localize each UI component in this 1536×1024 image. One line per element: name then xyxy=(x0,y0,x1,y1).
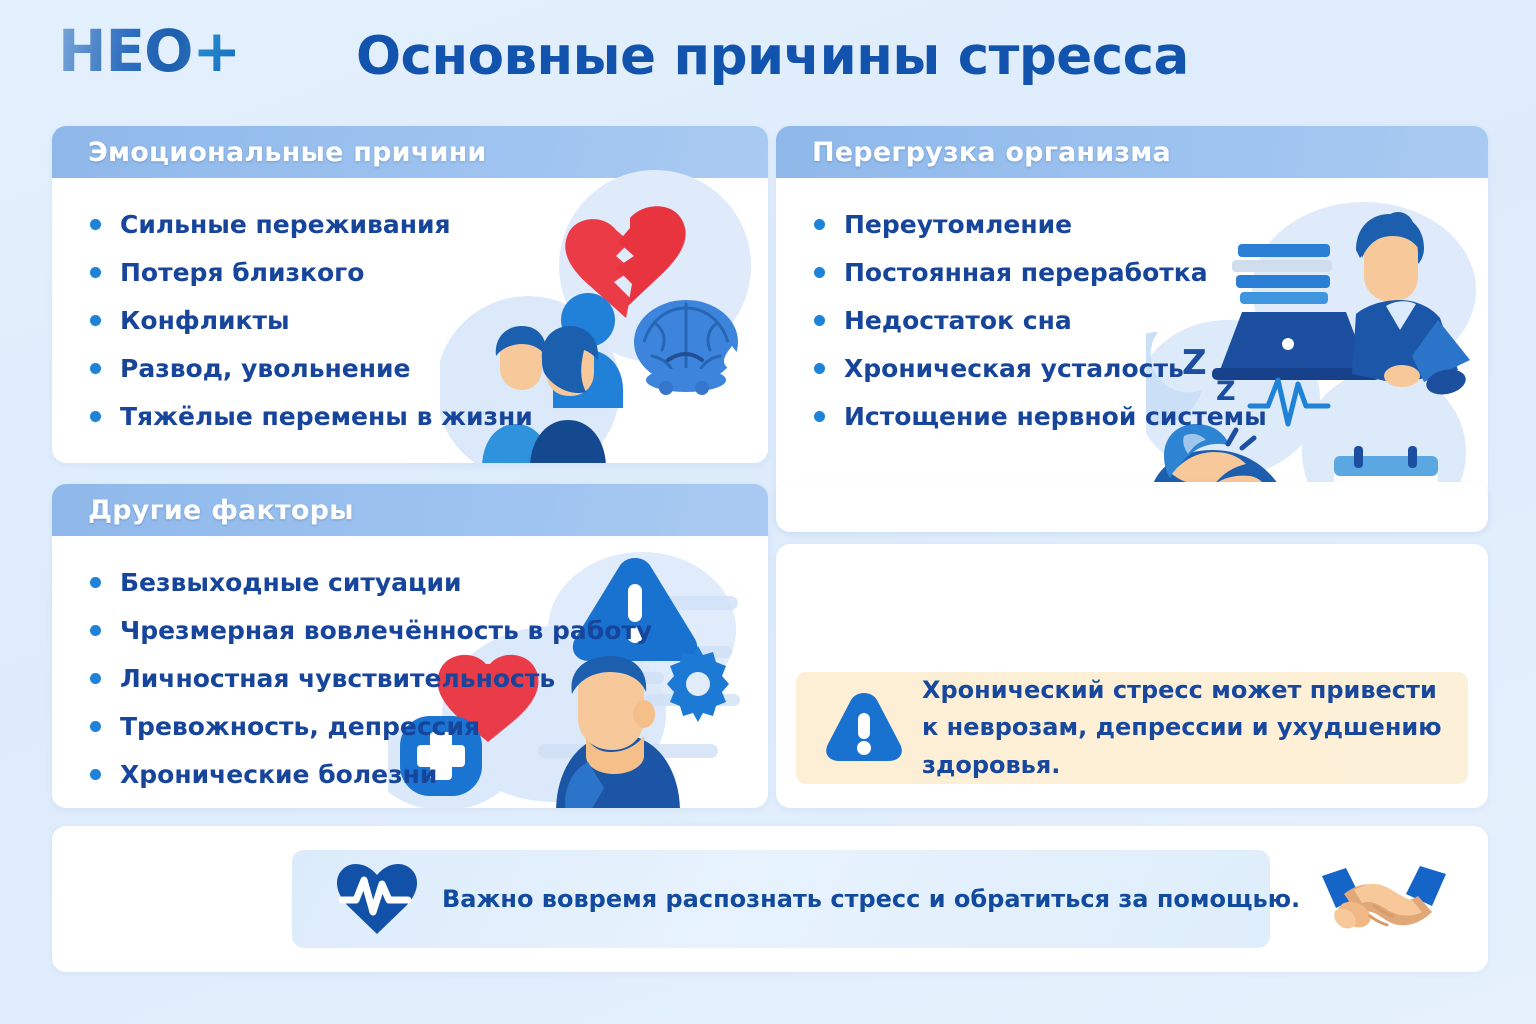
list-item: Постоянная переработка xyxy=(814,248,1267,296)
list-item: Хронические болезни xyxy=(90,750,652,798)
list-item: Недостаток сна xyxy=(814,296,1267,344)
warning-text-line1: Хронический стресс может привести xyxy=(922,676,1437,704)
list-item-label: Развод, увольнение xyxy=(120,354,411,383)
list-item-label: Безвыходные ситуации xyxy=(120,568,462,597)
list-item: Тяжёлые перемены в жизни xyxy=(90,392,533,440)
card-spacer-strip xyxy=(776,482,1488,532)
list-item: Переутомление xyxy=(814,200,1267,248)
bullet-dot-icon xyxy=(90,267,101,278)
bullet-dot-icon xyxy=(90,625,101,636)
footer-callout: Важно вовремя распознать стресс и обрати… xyxy=(292,850,1270,948)
card-title-emotional: Эмоциональные причини xyxy=(88,137,487,168)
card-footer: Важно вовремя распознать стресс и обрати… xyxy=(52,826,1488,972)
list-item-label: Тревожность, депрессия xyxy=(120,712,480,741)
bullet-dot-icon xyxy=(814,315,825,326)
list-item-label: Переутомление xyxy=(844,210,1072,239)
warning-text: Хронический стресс может привести к невр… xyxy=(922,672,1468,784)
list-item: Развод, увольнение xyxy=(90,344,533,392)
page-title: Основные причины стресса xyxy=(356,26,1136,98)
card-body-emotional: Сильные переживания Потеря близкого Конф… xyxy=(52,178,768,463)
bullet-dot-icon xyxy=(90,721,101,732)
card-emotional-causes: Эмоциональные причини xyxy=(52,126,768,463)
heart-pulse-icon xyxy=(334,862,420,936)
bullet-dot-icon xyxy=(90,577,101,588)
page-header: НЕО+ Основные причины стресса xyxy=(0,0,1536,118)
card-chronic-stress-warning: Хронический стресс может привести к невр… xyxy=(776,544,1488,808)
bullet-dot-icon xyxy=(814,267,825,278)
logo-wordmark: НЕО xyxy=(58,17,192,85)
list-item-label: Истощение нервной системы xyxy=(844,402,1267,431)
warning-callout: Хронический стресс может привести к невр… xyxy=(796,672,1468,784)
card-body-overload-content: Z Z xyxy=(776,178,1488,530)
list-item-label: Хроническая усталость xyxy=(844,354,1184,383)
list-item: Сильные переживания xyxy=(90,200,533,248)
neo-plus-logo: НЕО+ xyxy=(58,22,240,80)
list-item: Истощение нервной системы xyxy=(814,392,1267,440)
bullet-dot-icon xyxy=(90,315,101,326)
bullet-dot-icon xyxy=(90,363,101,374)
card-header-emotional: Эмоциональные причини xyxy=(52,126,768,178)
logo-plus-glyph: + xyxy=(192,17,240,85)
list-item-label: Личностная чувствительность xyxy=(120,664,555,693)
list-item: Безвыходные ситуации xyxy=(90,558,652,606)
list-item-label: Потеря близкого xyxy=(120,258,364,287)
list-item: Потеря близкого xyxy=(90,248,533,296)
list-emotional-causes: Сильные переживания Потеря близкого Конф… xyxy=(90,200,533,440)
list-item-label: Чрезмерная вовлечённость в работу xyxy=(120,616,652,645)
list-item: Хроническая усталость xyxy=(814,344,1267,392)
list-item-label: Хронические болезни xyxy=(120,760,437,789)
card-other-factors: Другие факторы xyxy=(52,484,768,808)
list-item-label: Конфликты xyxy=(120,306,290,335)
bullet-dot-icon xyxy=(90,673,101,684)
list-item: Конфликты xyxy=(90,296,533,344)
bullet-dot-icon xyxy=(90,411,101,422)
warning-text-line2: к неврозам, депрессии и ухудшению здоров… xyxy=(922,713,1442,778)
list-other-factors: Безвыходные ситуации Чрезмерная вовлечён… xyxy=(90,558,652,798)
bullet-dot-icon xyxy=(90,769,101,780)
card-header-overload: Перегрузка организма xyxy=(776,126,1488,178)
card-title-other: Другие факторы xyxy=(88,495,354,526)
list-item: Личностная чувствительность xyxy=(90,654,652,702)
footer-text: Важно вовремя распознать стресс и обрати… xyxy=(442,885,1300,913)
list-item: Чрезмерная вовлечённость в работу xyxy=(90,606,652,654)
list-item: Тревожность, депрессия xyxy=(90,702,652,750)
handshake-icon xyxy=(1322,860,1446,938)
list-overload-causes: Переутомление Постоянная переработка Нед… xyxy=(814,200,1267,440)
card-title-overload: Перегрузка организма xyxy=(812,137,1171,168)
list-item-label: Сильные переживания xyxy=(120,210,451,239)
card-body-other: Безвыходные ситуации Чрезмерная вовлечён… xyxy=(52,536,768,808)
list-item-label: Тяжёлые перемены в жизни xyxy=(120,402,533,431)
card-body-overload: Перегрузка организма xyxy=(776,126,1488,530)
bullet-dot-icon xyxy=(814,219,825,230)
list-item-label: Недостаток сна xyxy=(844,306,1072,335)
warning-triangle-icon xyxy=(826,691,902,766)
list-item-label: Постоянная переработка xyxy=(844,258,1208,287)
bullet-dot-icon xyxy=(814,411,825,422)
bullet-dot-icon xyxy=(90,219,101,230)
card-header-other: Другие факторы xyxy=(52,484,768,536)
bullet-dot-icon xyxy=(814,363,825,374)
